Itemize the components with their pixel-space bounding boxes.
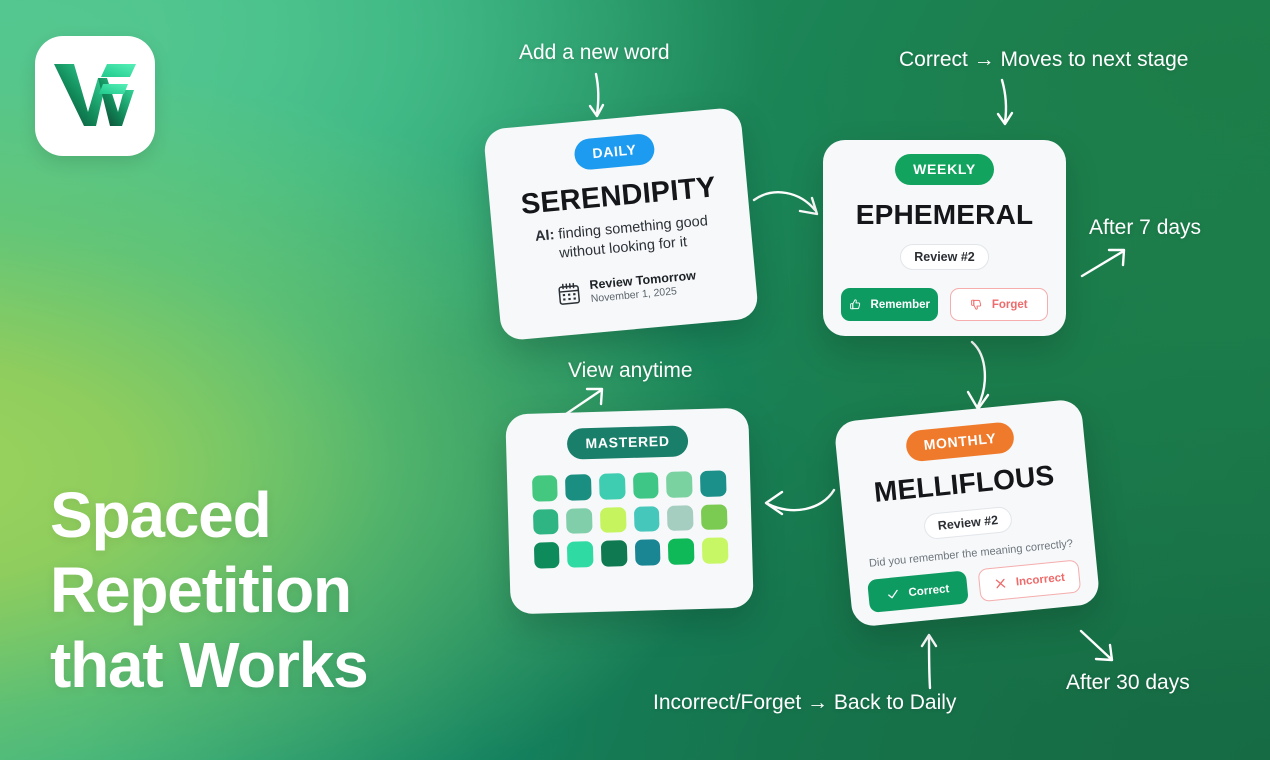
monthly-action-row: Correct Incorrect bbox=[867, 559, 1081, 613]
weekly-action-row: Remember Forget bbox=[841, 288, 1048, 321]
annotation-add-word: Add a new word bbox=[519, 41, 670, 65]
mastered-tile bbox=[633, 506, 659, 532]
arrow-after-7-days-icon bbox=[1080, 246, 1132, 280]
mastered-tile bbox=[531, 475, 557, 501]
correct-button[interactable]: Correct bbox=[867, 570, 969, 613]
card-weekly[interactable]: WEEKLY EPHEMERAL Review #2 Remember Forg… bbox=[823, 140, 1066, 336]
annotation-correct-next-stage: Correct → Moves to next stage bbox=[899, 48, 1188, 72]
mastered-tile bbox=[533, 542, 559, 568]
annotation-after-30-days: After 30 days bbox=[1066, 671, 1190, 695]
thumbs-up-icon bbox=[849, 298, 862, 311]
annotation-incorrect-back-to-daily: Incorrect/Forget → Back to Daily bbox=[653, 691, 956, 715]
annotation-view-anytime: View anytime bbox=[568, 359, 693, 383]
forget-button-label: Forget bbox=[992, 299, 1028, 311]
headline-line-1: Spaced bbox=[50, 478, 368, 553]
incorrect-button[interactable]: Incorrect bbox=[978, 559, 1082, 602]
badge-mastered: MASTERED bbox=[567, 425, 688, 459]
mastered-tile bbox=[702, 538, 728, 564]
mastered-tile bbox=[668, 539, 694, 565]
page-title: Spaced Repetition that Works bbox=[50, 478, 368, 703]
mastered-tile bbox=[634, 540, 660, 566]
review-text-block: Review Tomorrow November 1, 2025 bbox=[589, 269, 698, 306]
definition-text: finding something good without looking f… bbox=[558, 213, 709, 262]
mastered-tile bbox=[601, 540, 627, 566]
card-daily[interactable]: DAILY SERENDIPITY AI: finding something … bbox=[483, 107, 759, 342]
arrow-monthly-to-mastered-icon bbox=[762, 486, 838, 530]
badge-weekly: WEEKLY bbox=[895, 154, 994, 185]
mastered-tile bbox=[701, 504, 727, 530]
headline-line-2: Repetition bbox=[50, 553, 368, 628]
review-count-chip-weekly: Review #2 bbox=[900, 244, 988, 270]
mastered-tile bbox=[666, 471, 692, 497]
mastered-tile bbox=[566, 508, 592, 534]
app-logo bbox=[35, 36, 155, 156]
w-logo-icon bbox=[52, 60, 138, 132]
definition-label: AI: bbox=[534, 227, 555, 245]
arrow-incorrect-back-icon bbox=[912, 632, 948, 690]
card-monthly[interactable]: MONTHLY MELLIFLOUS Review #2 Did you rem… bbox=[834, 398, 1101, 627]
badge-daily: DAILY bbox=[573, 133, 656, 171]
arrow-after-30-days-icon bbox=[1078, 628, 1120, 666]
cross-icon bbox=[993, 576, 1007, 590]
card-mastered[interactable]: MASTERED bbox=[505, 408, 753, 615]
check-icon bbox=[886, 587, 900, 601]
poster-canvas: Spaced Repetition that Works Add a new w… bbox=[0, 0, 1270, 760]
mastered-tile bbox=[565, 474, 591, 500]
mastered-tile-grid bbox=[531, 470, 728, 568]
remember-button[interactable]: Remember bbox=[841, 288, 938, 321]
arrow-daily-to-weekly-icon bbox=[752, 186, 824, 230]
mastered-tile bbox=[667, 505, 693, 531]
arrow-weekly-to-monthly-icon bbox=[958, 340, 1002, 414]
review-schedule-row: Review Tomorrow November 1, 2025 bbox=[517, 265, 737, 312]
headline-line-3: that Works bbox=[50, 628, 368, 703]
word-title-weekly: EPHEMERAL bbox=[841, 199, 1048, 231]
annotation-after-7-days: After 7 days bbox=[1089, 216, 1201, 240]
mastered-tile bbox=[599, 473, 625, 499]
correct-button-label: Correct bbox=[908, 583, 950, 599]
mastered-tile bbox=[632, 472, 658, 498]
badge-monthly: MONTHLY bbox=[904, 421, 1015, 462]
mastered-tile bbox=[532, 509, 558, 535]
mastered-tile bbox=[600, 507, 626, 533]
mastered-tile bbox=[567, 541, 593, 567]
incorrect-button-label: Incorrect bbox=[1015, 571, 1065, 588]
arrow-correct-icon bbox=[990, 78, 1030, 128]
review-count-chip-monthly: Review #2 bbox=[923, 506, 1014, 541]
thumbs-down-icon bbox=[970, 298, 983, 311]
word-title-monthly: MELLIFLOUS bbox=[857, 458, 1071, 511]
calendar-icon bbox=[556, 281, 582, 307]
remember-button-label: Remember bbox=[871, 299, 930, 311]
arrow-add-word-icon bbox=[580, 72, 620, 120]
forget-button[interactable]: Forget bbox=[950, 288, 1049, 321]
mastered-tile bbox=[700, 470, 726, 496]
